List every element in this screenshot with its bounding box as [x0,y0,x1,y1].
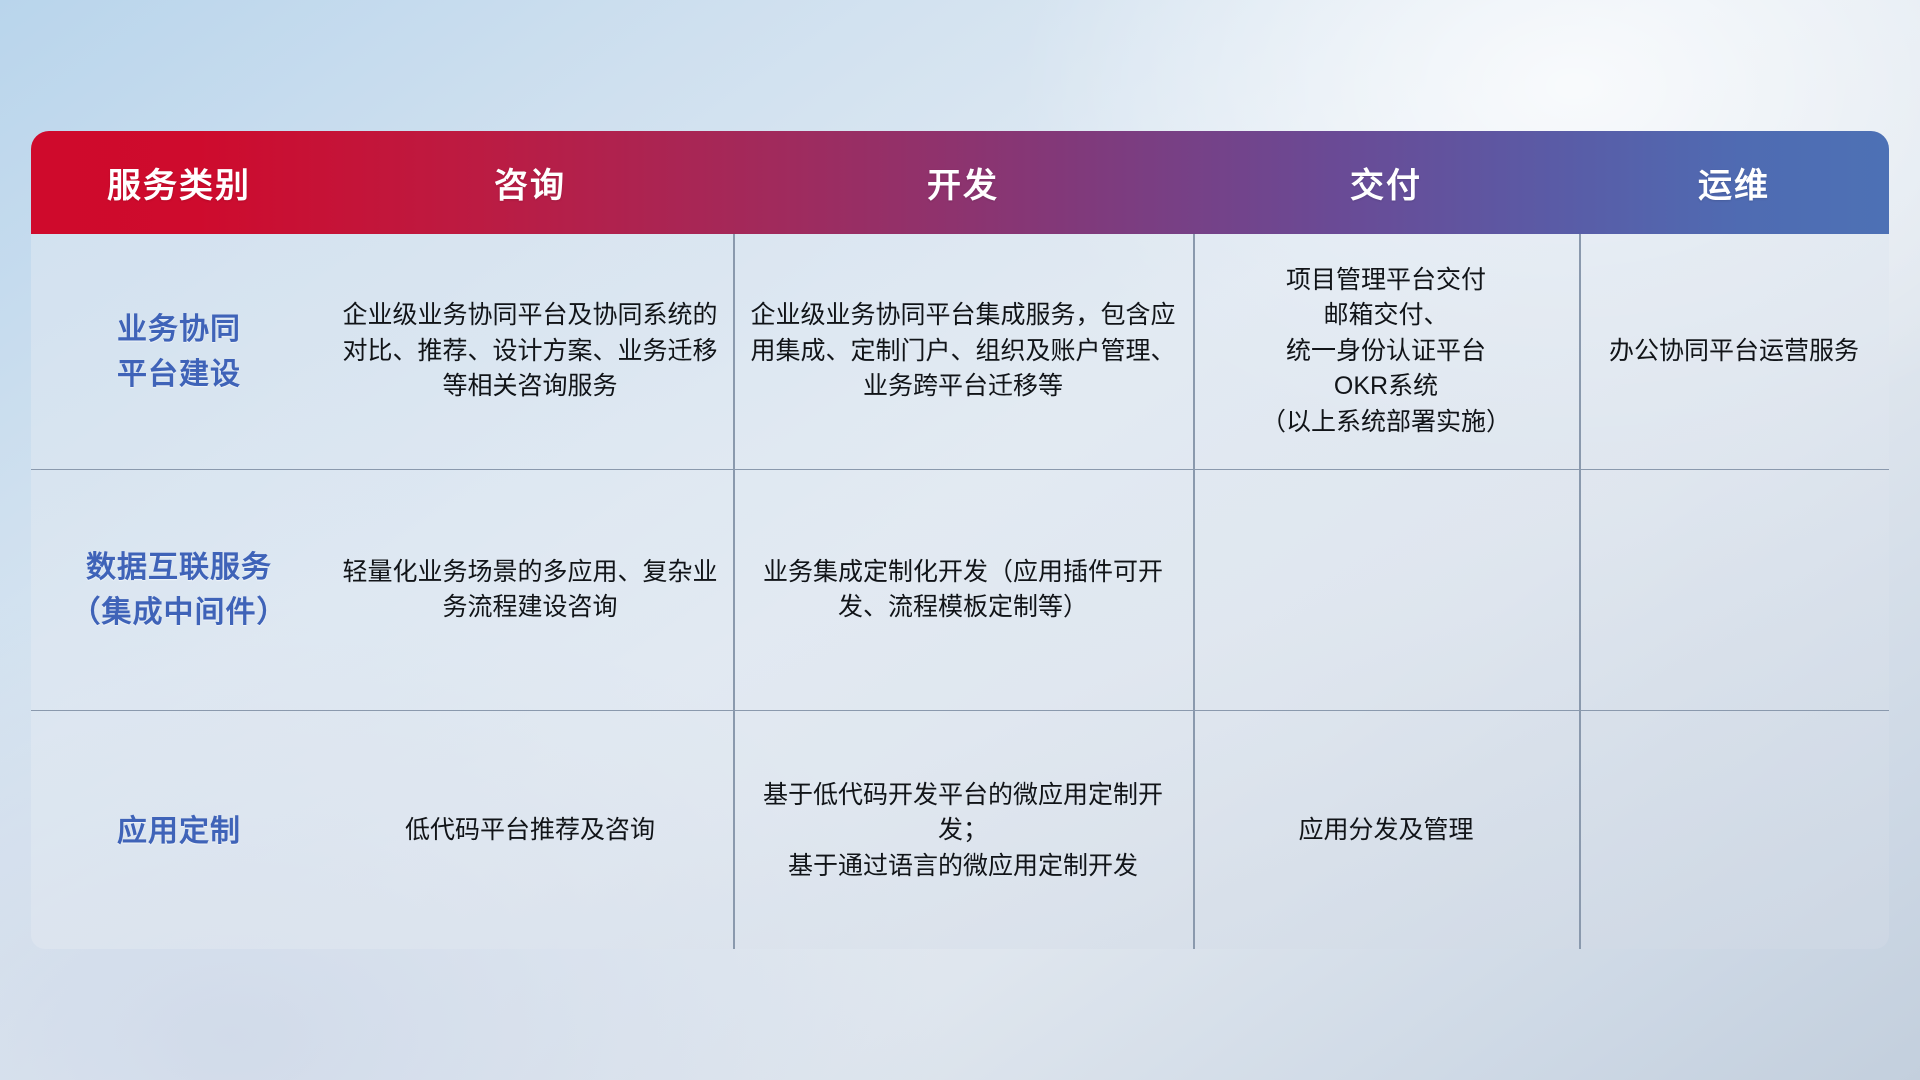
column-header-consulting: 咨询 [327,131,733,234]
column-header-operations: 运维 [1579,131,1889,234]
column-header-category: 服务类别 [31,131,327,234]
cell-delivery: 应用分发及管理 [1193,711,1579,951]
cell-development: 业务集成定制化开发（应用插件可开发、流程模板定制等） [733,470,1193,710]
cell-delivery: 项目管理平台交付 邮箱交付、 统一身份认证平台 OKR系统 （以上系统部署实施） [1193,234,1579,469]
table-body: 业务协同 平台建设 企业级业务协同平台及协同系统的对比、推荐、设计方案、业务迁移… [31,234,1889,949]
row-category-label: 业务协同 平台建设 [31,234,327,469]
cell-operations [1579,470,1889,710]
table-row: 数据互联服务 （集成中间件） 轻量化业务场景的多应用、复杂业务流程建设咨询 业务… [31,470,1889,711]
cell-operations: 办公协同平台运营服务 [1579,234,1889,469]
cell-development: 基于低代码开发平台的微应用定制开发； 基于通过语言的微应用定制开发 [733,711,1193,951]
table-row: 业务协同 平台建设 企业级业务协同平台及协同系统的对比、推荐、设计方案、业务迁移… [31,234,1889,470]
row-category-label: 数据互联服务 （集成中间件） [31,470,327,710]
row-category-label: 应用定制 [31,711,327,951]
cell-delivery [1193,470,1579,710]
cell-consulting: 低代码平台推荐及咨询 [327,711,733,951]
table-row: 应用定制 低代码平台推荐及咨询 基于低代码开发平台的微应用定制开发； 基于通过语… [31,711,1889,951]
column-header-delivery: 交付 [1193,131,1579,234]
cell-consulting: 企业级业务协同平台及协同系统的对比、推荐、设计方案、业务迁移等相关咨询服务 [327,234,733,469]
slide-canvas: 服务类别 咨询 开发 交付 运维 业务协同 平台建设 企业级业务协同平台及协同系… [0,0,1920,1080]
cell-development: 企业级业务协同平台集成服务，包含应用集成、定制门户、组织及账户管理、业务跨平台迁… [733,234,1193,469]
column-header-development: 开发 [733,131,1193,234]
table-header-row: 服务类别 咨询 开发 交付 运维 [31,131,1889,234]
cell-operations [1579,711,1889,951]
service-matrix-table: 服务类别 咨询 开发 交付 运维 业务协同 平台建设 企业级业务协同平台及协同系… [31,131,1889,949]
cell-consulting: 轻量化业务场景的多应用、复杂业务流程建设咨询 [327,470,733,710]
